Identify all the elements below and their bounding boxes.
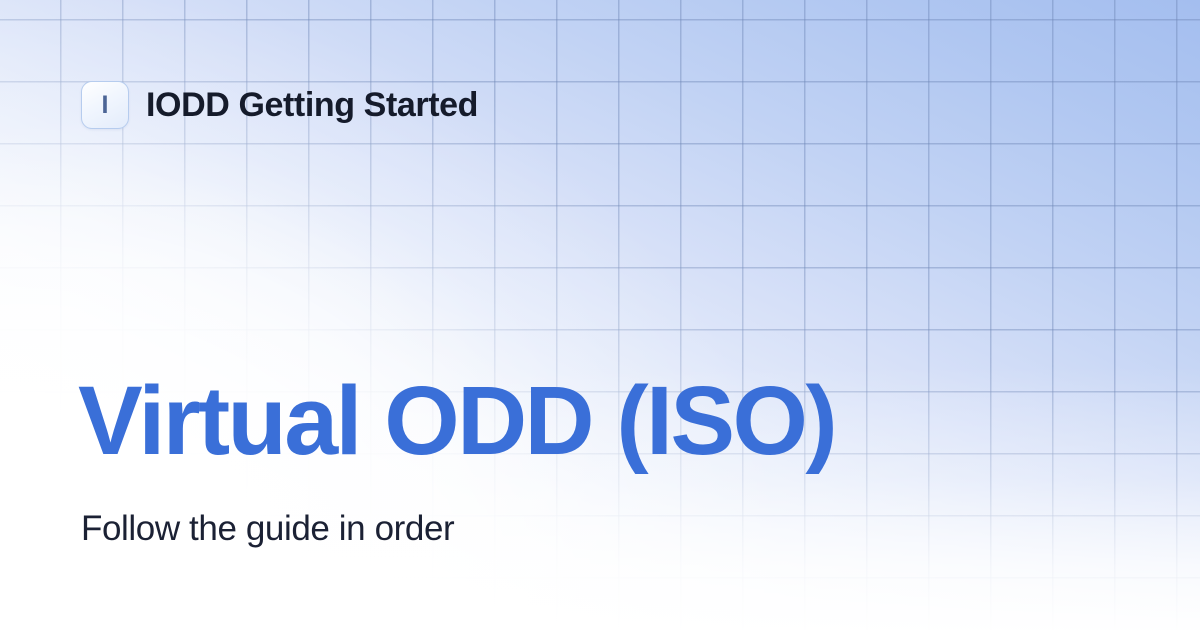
iodd-logo-icon: I <box>81 81 129 129</box>
card-content: I IODD Getting Started Virtual ODD (ISO)… <box>0 0 1200 630</box>
brand-title: IODD Getting Started <box>146 86 478 125</box>
brand-header: I IODD Getting Started <box>81 81 478 129</box>
badge-letter: I <box>102 93 109 118</box>
page-subtitle: Follow the guide in order <box>81 507 454 551</box>
og-share-card: I IODD Getting Started Virtual ODD (ISO)… <box>0 0 1200 630</box>
page-title: Virtual ODD (ISO) <box>78 372 835 469</box>
